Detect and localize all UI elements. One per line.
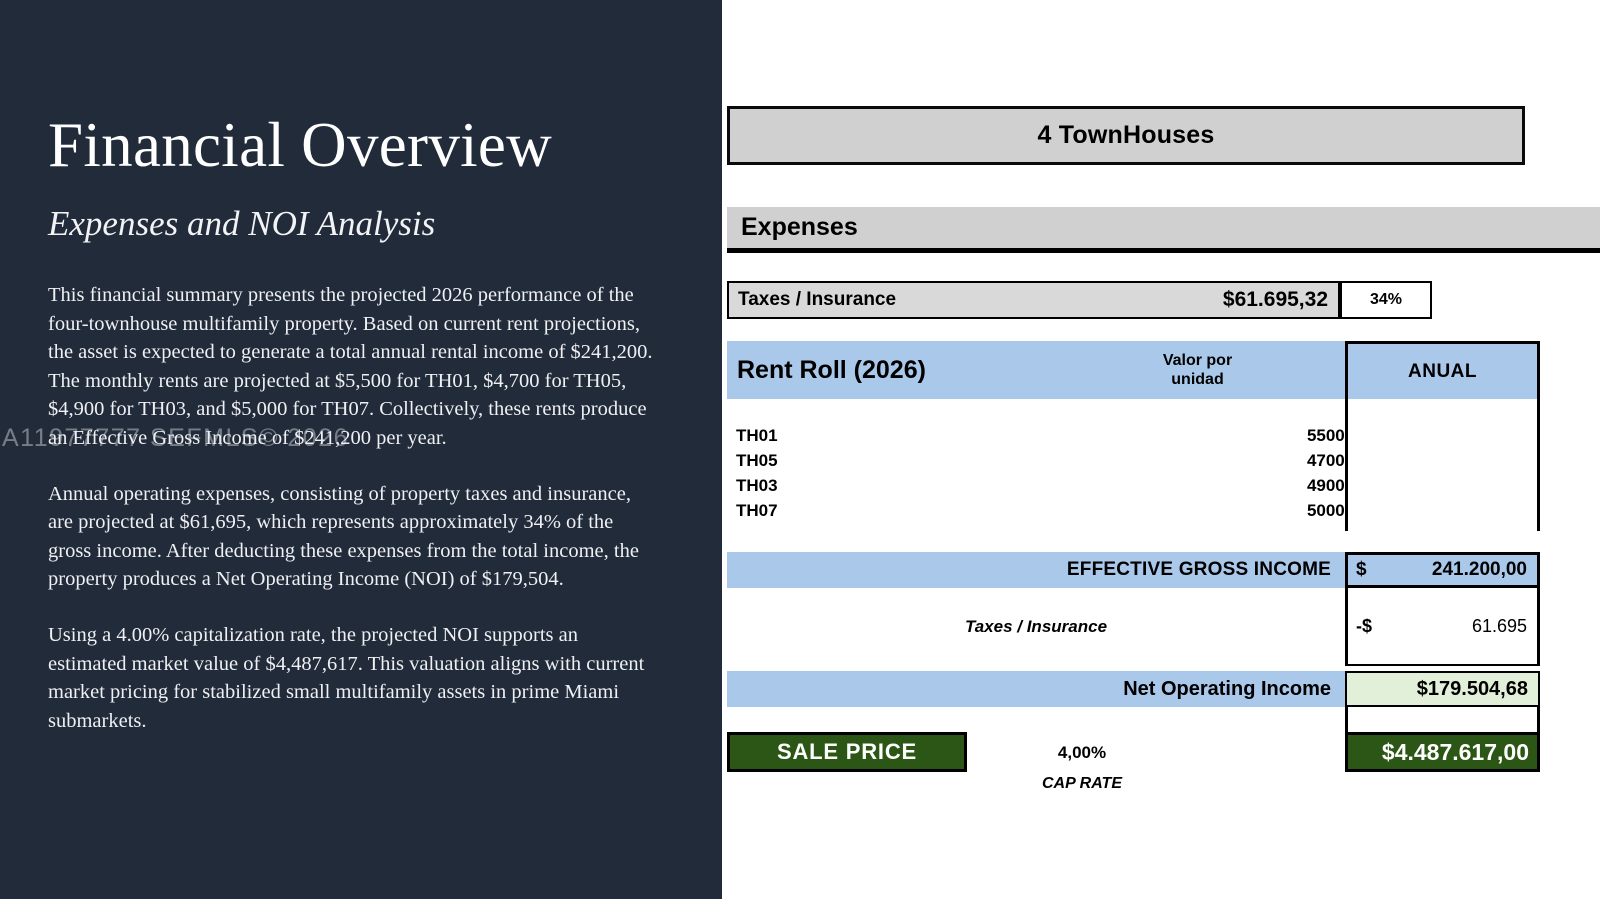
slide-root: Financial Overview Expenses and NOI Anal… xyxy=(0,0,1600,899)
effective-gross-income-label: EFFECTIVE GROSS INCOME xyxy=(727,552,1345,588)
taxes-insurance-label: Taxes / Insurance xyxy=(729,289,1223,311)
page-title: Financial Overview xyxy=(48,112,552,178)
unit-monthly-value: 5000 xyxy=(913,501,1352,521)
sale-price-value: $4.487.617,00 xyxy=(1345,732,1540,772)
cap-rate-percent: 4,00% xyxy=(1022,740,1142,766)
financial-sheet: 4 TownHouses Expenses Taxes / Insurance … xyxy=(722,0,1600,899)
unit-monthly-value: 4700 xyxy=(913,451,1352,471)
rent-roll-unit-value-header: Valor por unidad xyxy=(1150,341,1245,399)
deduction-label: Taxes / Insurance xyxy=(727,588,1345,666)
deduction-value: -$ 61.695 xyxy=(1345,588,1540,666)
amount: 61.695 xyxy=(1372,616,1537,637)
taxes-insurance-percent: 34% xyxy=(1340,281,1432,319)
annual-column-frame xyxy=(1345,399,1540,531)
unit-name: TH01 xyxy=(727,426,913,446)
effective-gross-income-value: $ 241.200,00 xyxy=(1345,552,1540,588)
taxes-insurance-value: $61.695,32 xyxy=(1223,288,1338,312)
narrative-paragraph-2: Annual operating expenses, consisting of… xyxy=(48,480,660,594)
narrative-paragraph-3: Using a 4.00% capitalization rate, the p… xyxy=(48,621,660,735)
unit-name: TH07 xyxy=(727,501,913,521)
rent-roll-annual-header: ANUAL xyxy=(1345,341,1540,399)
unit-monthly-value: 5500 xyxy=(913,426,1352,446)
unit-value-header-line2: unidad xyxy=(1171,370,1223,389)
amount: 241.200,00 xyxy=(1367,559,1537,581)
sale-price-label: SALE PRICE xyxy=(727,732,967,772)
sheet-title: 4 TownHouses xyxy=(727,106,1525,165)
expenses-section-header: Expenses xyxy=(727,207,1600,253)
net-operating-income-label: Net Operating Income xyxy=(727,671,1345,707)
narrative-paragraph-1: This financial summary presents the proj… xyxy=(48,281,660,453)
net-operating-income-value: $179.504,68 xyxy=(1345,671,1540,707)
narrative-panel: Financial Overview Expenses and NOI Anal… xyxy=(0,0,722,899)
rent-roll-header-filler xyxy=(1245,341,1350,399)
taxes-insurance-row: Taxes / Insurance $61.695,32 xyxy=(727,281,1340,319)
rent-roll-title: Rent Roll (2026) xyxy=(727,341,1150,399)
spreadsheet-panel: 4 TownHouses Expenses Taxes / Insurance … xyxy=(722,0,1600,899)
spacer-cell xyxy=(1345,707,1540,734)
cap-rate-label: CAP RATE xyxy=(1022,772,1142,796)
unit-value-header-line1: Valor por xyxy=(1163,351,1232,370)
unit-name: TH03 xyxy=(727,476,913,496)
currency-symbol: $ xyxy=(1348,559,1367,581)
currency-symbol-negative: -$ xyxy=(1348,616,1372,637)
page-subtitle: Expenses and NOI Analysis xyxy=(48,203,435,245)
narrative-body: This financial summary presents the proj… xyxy=(48,281,660,735)
unit-name: TH05 xyxy=(727,451,913,471)
unit-monthly-value: 4900 xyxy=(913,476,1352,496)
